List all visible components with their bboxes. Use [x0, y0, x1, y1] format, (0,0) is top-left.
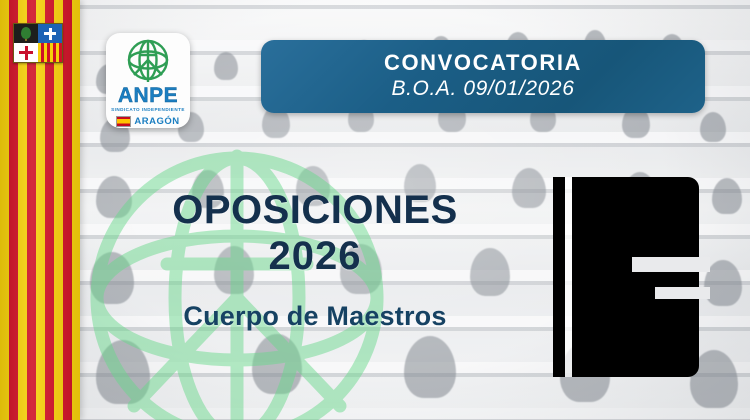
flag-shine — [0, 0, 80, 420]
headline-year: 2026 — [90, 234, 540, 280]
anpe-tagline: SINDICATO INDEPENDIENTE — [111, 107, 185, 112]
poster-canvas: ANPE SINDICATO INDEPENDIENTE ARAGÓN CONV… — [0, 0, 750, 420]
aragon-coat-of-arms — [13, 23, 63, 63]
convocatoria-banner[interactable]: CONVOCATORIA B.O.A. 09/01/2026 — [261, 40, 705, 113]
banner-subtitle: B.O.A. 09/01/2026 — [392, 77, 575, 101]
globe-icon — [121, 38, 175, 84]
aragon-flag — [0, 0, 80, 420]
banner-title: CONVOCATORIA — [384, 51, 582, 74]
headline-subtitle: Cuerpo de Maestros — [90, 301, 540, 332]
book-label-line-1 — [632, 257, 710, 272]
spain-flag-icon — [116, 116, 131, 127]
coa-quarter-sobrarbe-oak-tree — [14, 24, 38, 43]
headline-block: OPOSICIONES 2026 Cuerpo de Maestros — [90, 188, 540, 332]
anpe-region-label: ARAGÓN — [134, 116, 179, 127]
coa-quarter-blue-cross — [38, 24, 62, 43]
page-title: OPOSICIONES — [90, 188, 540, 234]
coa-quarter-cross-of-alcoraz — [14, 43, 38, 62]
book-cover — [572, 177, 699, 377]
book-spine — [553, 177, 565, 377]
book-spine-gap — [565, 177, 572, 377]
coa-quarter-bars-of-aragon — [38, 43, 62, 62]
book-icon — [553, 177, 699, 377]
anpe-region-row: ARAGÓN — [116, 116, 179, 127]
anpe-logo[interactable]: ANPE SINDICATO INDEPENDIENTE ARAGÓN — [106, 33, 190, 128]
anpe-wordmark: ANPE — [118, 85, 178, 106]
book-label-line-2 — [655, 287, 710, 299]
